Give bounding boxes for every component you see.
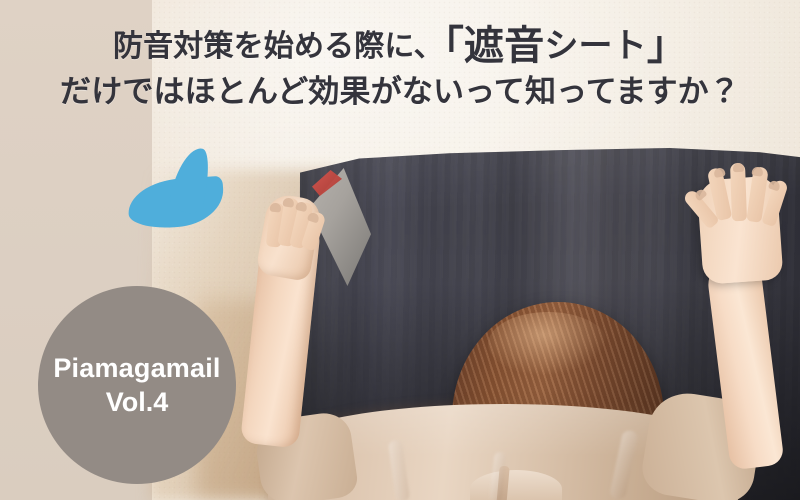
- headline-quote-open: 「: [444, 24, 464, 68]
- banner-image: 防音対策を始める際に、「遮音シート」 だけではほとんど効果がないって知ってますか…: [0, 0, 800, 500]
- badge-title: Piamagamail: [53, 351, 220, 385]
- headline: 防音対策を始める際に、「遮音シート」 だけではほとんど効果がないって知ってますか…: [0, 24, 800, 115]
- issue-badge: Piamagamail Vol.4: [38, 286, 236, 484]
- hair-highlight: [488, 312, 608, 376]
- headline-emphasis: 遮音: [464, 24, 544, 68]
- headline-line-1: 防音対策を始める際に、「遮音シート」: [0, 24, 800, 69]
- headline-line-1-prefix: 防音対策を始める際に、: [113, 30, 444, 63]
- fingernail: [733, 163, 744, 172]
- blue-leaf-mark-icon: [112, 142, 230, 240]
- headline-emphasis-tail: シート: [544, 27, 646, 65]
- fingernail: [270, 202, 282, 212]
- collar: [470, 470, 562, 500]
- badge-volume: Vol.4: [106, 385, 169, 419]
- headline-quote-close: 」: [647, 24, 687, 68]
- headline-line-2: だけではほとんど効果がないって知ってますか？: [0, 69, 800, 115]
